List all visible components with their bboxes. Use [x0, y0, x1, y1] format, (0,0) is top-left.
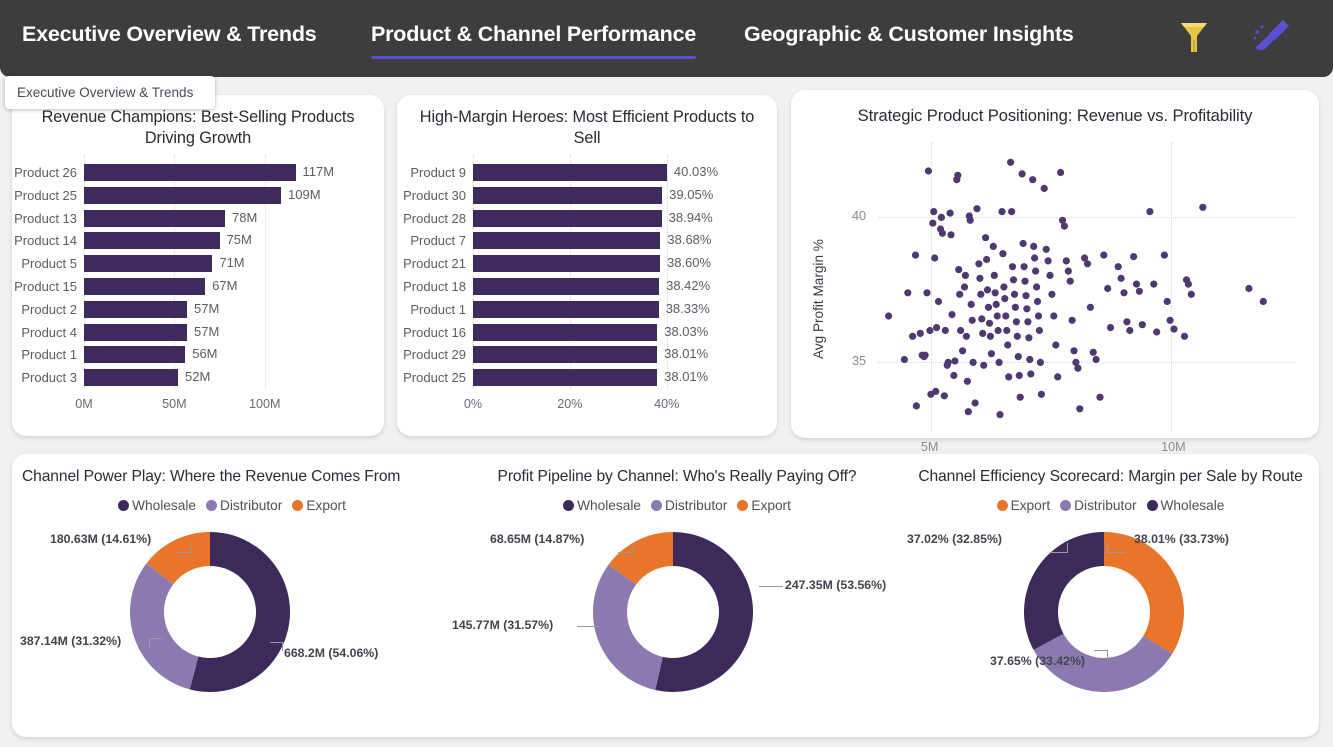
- scatter-point[interactable]: [1120, 289, 1127, 296]
- legend-color-dot: [563, 500, 574, 511]
- nav-tab-label: Geographic & Customer Insights: [744, 22, 1074, 46]
- scatter-point[interactable]: [1115, 263, 1122, 270]
- donut-graphic: [130, 532, 290, 692]
- scatter-point[interactable]: [912, 252, 919, 259]
- card-high-margin-heroes: High-Margin Heroes: Most Efficient Produ…: [397, 95, 777, 436]
- scatter-point[interactable]: [1038, 391, 1045, 398]
- legend-label: Distributor: [665, 498, 727, 513]
- scatter-point[interactable]: [1013, 318, 1020, 325]
- scatter-point[interactable]: [1199, 204, 1206, 211]
- nav-tab-executive-overview[interactable]: Executive Overview & Trends: [22, 22, 317, 47]
- bar-fill[interactable]: 38.94%: [473, 210, 662, 227]
- callout-leader-line: [618, 543, 634, 553]
- bar-fill[interactable]: 38.01%: [473, 369, 657, 386]
- scatter-point[interactable]: [1005, 373, 1012, 380]
- bar-value-label: 38.42%: [659, 278, 710, 293]
- legend-label: Export: [306, 498, 346, 513]
- bar-category-label: Product 16: [403, 325, 473, 340]
- bar-fill[interactable]: 40.03%: [473, 164, 667, 181]
- bar-category-label: Product 25: [14, 188, 84, 203]
- scatter-point[interactable]: [925, 167, 932, 174]
- scatter-point[interactable]: [1000, 283, 1007, 290]
- bar-row[interactable]: Product 1638.03%: [473, 322, 691, 342]
- x-axis-tick: 40%: [654, 397, 679, 411]
- bar-category-label: Product 1: [21, 347, 84, 362]
- scatter-point[interactable]: [954, 172, 961, 179]
- scatter-point[interactable]: [990, 243, 997, 250]
- legend-label: Wholesale: [132, 498, 196, 513]
- bar-value-label: 38.01%: [657, 346, 708, 361]
- scatter-point[interactable]: [942, 327, 949, 334]
- scatter-point[interactable]: [1041, 185, 1048, 192]
- scatter-point[interactable]: [1063, 257, 1070, 264]
- legend-color-dot: [1147, 500, 1158, 511]
- scatter-point[interactable]: [1043, 246, 1050, 253]
- scatter-point[interactable]: [1057, 169, 1064, 176]
- x-axis-tick: 20%: [557, 397, 582, 411]
- scatter-point[interactable]: [1017, 394, 1024, 401]
- callout-leader-line: [577, 626, 599, 627]
- bar-row[interactable]: Product 738.68%: [473, 231, 691, 251]
- bar-category-label: Product 30: [403, 188, 473, 203]
- bar-row[interactable]: Product 571M: [84, 254, 319, 274]
- bar-category-label: Product 4: [21, 325, 84, 340]
- top-navigation-bar: Executive Overview & Trends Product & Ch…: [0, 0, 1333, 77]
- bar-fill[interactable]: 71M: [84, 255, 212, 272]
- scatter-point[interactable]: [975, 260, 982, 267]
- scatter-point[interactable]: [1139, 321, 1146, 328]
- scatter-point[interactable]: [1048, 291, 1055, 298]
- scatter-point[interactable]: [1009, 263, 1016, 270]
- filter-icon[interactable]: [1172, 14, 1216, 58]
- bar-row[interactable]: Product 2538.01%: [473, 368, 691, 388]
- legend-label: Distributor: [1074, 498, 1136, 513]
- scatter-point[interactable]: [1054, 373, 1061, 380]
- scatter-point[interactable]: [904, 289, 911, 296]
- bar-fill[interactable]: 52M: [84, 369, 178, 386]
- scatter-point[interactable]: [1067, 278, 1074, 285]
- scatter-point[interactable]: [951, 357, 958, 364]
- legend-label: Distributor: [220, 498, 282, 513]
- bar-fill[interactable]: 57M: [84, 324, 187, 341]
- callout-leader-line: [1094, 650, 1108, 660]
- scatter-point[interactable]: [1030, 243, 1037, 250]
- scatter-point[interactable]: [1026, 356, 1033, 363]
- scatter-point[interactable]: [963, 333, 970, 340]
- bar-fill[interactable]: 38.68%: [473, 232, 660, 249]
- scatter-point[interactable]: [956, 291, 963, 298]
- scatter-point[interactable]: [1019, 170, 1026, 177]
- nav-tab-label: Product & Channel Performance: [371, 22, 696, 46]
- nav-tab-product-channel-performance[interactable]: Product & Channel Performance: [371, 22, 696, 47]
- bar-value-label: 75M: [220, 232, 252, 247]
- bar-category-label: Product 2: [21, 302, 84, 317]
- scatter-point[interactable]: [1123, 318, 1130, 325]
- bar-value-label: 38.94%: [662, 210, 713, 225]
- scatter-point[interactable]: [1010, 276, 1017, 283]
- scatter-point[interactable]: [996, 411, 1003, 418]
- legend-item[interactable]: Distributor: [651, 498, 727, 513]
- scatter-point[interactable]: [1167, 317, 1174, 324]
- scatter-point[interactable]: [972, 399, 979, 406]
- bar-fill[interactable]: 56M: [84, 346, 185, 363]
- scatter-point[interactable]: [988, 350, 995, 357]
- scatter-point[interactable]: [931, 254, 938, 261]
- x-axis-tick: 5M: [921, 440, 939, 454]
- bar-value-label: 38.60%: [660, 255, 711, 270]
- bar-fill[interactable]: 78M: [84, 210, 225, 227]
- bar-row[interactable]: Product 3039.05%: [473, 185, 691, 205]
- scatter-point[interactable]: [1007, 159, 1014, 166]
- bar-category-label: Product 1: [410, 302, 473, 317]
- scatter-point[interactable]: [1002, 312, 1009, 319]
- scatter-point[interactable]: [1181, 333, 1188, 340]
- scatter-point[interactable]: [922, 352, 929, 359]
- scatter-point[interactable]: [959, 347, 966, 354]
- legend-color-dot: [997, 500, 1008, 511]
- nav-tab-label: Executive Overview & Trends: [22, 22, 317, 46]
- legend-color-dot: [1060, 500, 1071, 511]
- x-axis-tick: 0M: [75, 397, 93, 411]
- chart-title: High-Margin Heroes: Most Efficient Produ…: [409, 107, 765, 149]
- scatter-point[interactable]: [945, 359, 952, 366]
- legend-label: Export: [1011, 498, 1051, 513]
- scatter-point[interactable]: [930, 208, 937, 215]
- scatter-point[interactable]: [1074, 365, 1081, 372]
- scatter-point[interactable]: [1036, 327, 1043, 334]
- scatter-point[interactable]: [955, 266, 962, 273]
- bar-category-label: Product 29: [403, 347, 473, 362]
- bar-chart-revenue-champions: 0M50M100MProduct 26117MProduct 25109MPro…: [84, 161, 319, 389]
- bar-row[interactable]: Product 26117M: [84, 162, 319, 182]
- bar-fill[interactable]: 109M: [84, 187, 281, 204]
- bar-category-label: Product 13: [14, 211, 84, 226]
- scatter-point[interactable]: [982, 234, 989, 241]
- scatter-point[interactable]: [1033, 283, 1040, 290]
- bar-row[interactable]: Product 2938.01%: [473, 345, 691, 365]
- scatter-point[interactable]: [1188, 291, 1195, 298]
- donut-callout: 68.65M (14.87%): [490, 532, 584, 546]
- chart-title: Channel Power Play: Where the Revenue Co…: [12, 468, 452, 486]
- scatter-point[interactable]: [987, 333, 994, 340]
- scatter-point[interactable]: [1032, 268, 1039, 275]
- bar-value-label: 38.01%: [657, 369, 708, 384]
- scatter-point[interactable]: [973, 205, 980, 212]
- donut-chart-channel-efficiency: Channel Efficiency Scorecard: Margin per…: [902, 454, 1319, 737]
- bar-category-label: Product 5: [21, 256, 84, 271]
- donut-ring: [130, 532, 290, 692]
- scatter-point[interactable]: [1104, 285, 1111, 292]
- scatter-point[interactable]: [1037, 359, 1044, 366]
- scatter-point[interactable]: [964, 378, 971, 385]
- chart-title: Revenue Champions: Best-Selling Products…: [22, 107, 374, 149]
- donut-legend: ExportDistributorWholesale: [902, 498, 1319, 513]
- bar-category-label: Product 26: [14, 165, 84, 180]
- scatter-point[interactable]: [1052, 341, 1059, 348]
- bar-value-label: 78M: [225, 210, 257, 225]
- scatter-point[interactable]: [1146, 208, 1153, 215]
- donut-graphic: [1024, 532, 1184, 692]
- scatter-point[interactable]: [986, 320, 993, 327]
- scatter-point[interactable]: [993, 301, 1000, 308]
- scatter-point[interactable]: [917, 330, 924, 337]
- bar-row[interactable]: Product 1567M: [84, 276, 319, 296]
- scatter-point[interactable]: [1107, 324, 1114, 331]
- scatter-point[interactable]: [977, 291, 984, 298]
- bar-row[interactable]: Product 138.33%: [473, 299, 691, 319]
- bar-row[interactable]: Product 25109M: [84, 185, 319, 205]
- bar-row[interactable]: Product 1838.42%: [473, 276, 691, 296]
- scatter-point[interactable]: [983, 256, 990, 263]
- bar-value-label: 109M: [281, 187, 321, 202]
- bar-row[interactable]: Product 940.03%: [473, 162, 691, 182]
- scatter-point[interactable]: [991, 272, 998, 279]
- scatter-point[interactable]: [992, 289, 999, 296]
- scatter-point[interactable]: [1153, 328, 1160, 335]
- scatter-point[interactable]: [1004, 341, 1011, 348]
- bar-value-label: 38.68%: [660, 232, 711, 247]
- donut-slice[interactable]: [593, 564, 663, 690]
- legend-color-dot: [737, 500, 748, 511]
- bar-fill[interactable]: 38.01%: [473, 346, 657, 363]
- legend-item[interactable]: Export: [292, 498, 346, 513]
- scatter-point[interactable]: [994, 312, 1001, 319]
- bar-value-label: 57M: [187, 301, 219, 316]
- scatter-point[interactable]: [1070, 347, 1077, 354]
- scatter-point[interactable]: [999, 250, 1006, 257]
- chart-title: Profit Pipeline by Channel: Who's Really…: [452, 468, 902, 486]
- scatter-point[interactable]: [938, 214, 945, 221]
- scatter-point[interactable]: [985, 304, 992, 311]
- scatter-point[interactable]: [1016, 372, 1023, 379]
- nav-tab-geographic-customer-insights[interactable]: Geographic & Customer Insights: [744, 22, 1074, 47]
- scatter-point[interactable]: [926, 327, 933, 334]
- donut-callout: 668.2M (54.06%): [284, 646, 378, 660]
- bar-value-label: 38.33%: [659, 301, 710, 316]
- callout-leader-line: [270, 642, 283, 651]
- scatter-point[interactable]: [909, 333, 916, 340]
- scatter-point[interactable]: [1118, 275, 1125, 282]
- scatter-point[interactable]: [1023, 305, 1030, 312]
- bar-category-label: Product 15: [14, 279, 84, 294]
- scatter-point[interactable]: [1164, 298, 1171, 305]
- scatter-point[interactable]: [1136, 288, 1143, 295]
- scatter-point[interactable]: [1027, 370, 1034, 377]
- bar-category-label: Product 9: [410, 165, 473, 180]
- scatter-point[interactable]: [1014, 333, 1021, 340]
- scatter-point[interactable]: [1260, 298, 1267, 305]
- scatter-point[interactable]: [1021, 278, 1028, 285]
- legend-item[interactable]: Distributor: [206, 498, 282, 513]
- bar-fill[interactable]: 38.60%: [473, 255, 660, 272]
- scatter-point[interactable]: [1087, 304, 1094, 311]
- donut-graphic: [593, 532, 753, 692]
- scatter-point[interactable]: [1003, 327, 1010, 334]
- scatter-point[interactable]: [1130, 253, 1137, 260]
- scatter-point[interactable]: [1020, 240, 1027, 247]
- callout-leader-line: [1107, 543, 1125, 553]
- scatter-point[interactable]: [978, 315, 985, 322]
- scatter-point[interactable]: [957, 327, 964, 334]
- scatter-point[interactable]: [923, 289, 930, 296]
- legend-item[interactable]: Wholesale: [118, 498, 196, 513]
- scatter-point[interactable]: [1150, 281, 1157, 288]
- bar-value-label: 57M: [187, 324, 219, 339]
- scatter-point[interactable]: [995, 327, 1002, 334]
- scatter-point[interactable]: [901, 356, 908, 363]
- scatter-point[interactable]: [1093, 356, 1100, 363]
- scatter-point[interactable]: [998, 208, 1005, 215]
- scatter-point[interactable]: [1015, 353, 1022, 360]
- bar-row[interactable]: Product 352M: [84, 368, 319, 388]
- scatter-point[interactable]: [948, 311, 955, 318]
- donut-callout: 38.01% (33.73%): [1134, 532, 1229, 546]
- legend-item[interactable]: Wholesale: [1147, 498, 1225, 513]
- scatter-point[interactable]: [1096, 394, 1103, 401]
- scatter-point[interactable]: [1021, 263, 1028, 270]
- bar-value-label: 117M: [296, 164, 335, 179]
- scatter-point[interactable]: [967, 217, 974, 224]
- legend-color-dot: [292, 500, 303, 511]
- bar-category-label: Product 14: [14, 233, 84, 248]
- callout-leader-line: [759, 586, 783, 587]
- scatter-point[interactable]: [1100, 252, 1107, 259]
- bar-value-label: 71M: [212, 255, 244, 270]
- scatter-point[interactable]: [947, 231, 954, 238]
- legend-item[interactable]: Export: [997, 498, 1051, 513]
- scatter-point[interactable]: [1069, 317, 1076, 324]
- scatter-points-layer: [791, 90, 1319, 438]
- donut-callout: 37.02% (32.85%): [907, 532, 1002, 546]
- scatter-point[interactable]: [984, 286, 991, 293]
- scatter-point[interactable]: [1133, 281, 1140, 288]
- nav-tab-tooltip: Executive Overview & Trends: [5, 76, 215, 109]
- scatter-point[interactable]: [1245, 285, 1252, 292]
- donut-slice[interactable]: [130, 563, 198, 689]
- scatter-point[interactable]: [969, 317, 976, 324]
- scatter-point[interactable]: [980, 362, 987, 369]
- x-axis-tick: 0%: [464, 397, 482, 411]
- scatter-point[interactable]: [1008, 208, 1015, 215]
- bar-fill[interactable]: 38.42%: [473, 278, 659, 295]
- scatter-point[interactable]: [929, 220, 936, 227]
- scatter-point[interactable]: [932, 388, 939, 395]
- bar-category-label: Product 28: [403, 211, 473, 226]
- broom-icon[interactable]: [1249, 14, 1293, 58]
- x-axis-tick: 100M: [249, 397, 281, 411]
- bar-chart-high-margin-heroes: 0%20%40%Product 940.03%Product 3039.05%P…: [473, 161, 691, 389]
- scatter-point[interactable]: [1001, 295, 1008, 302]
- bar-row[interactable]: Product 2838.94%: [473, 208, 691, 228]
- scatter-point[interactable]: [996, 359, 1003, 366]
- legend-label: Wholesale: [1161, 498, 1225, 513]
- scatter-point[interactable]: [1029, 176, 1036, 183]
- scatter-point[interactable]: [968, 301, 975, 308]
- scatter-point[interactable]: [913, 402, 920, 409]
- bar-row[interactable]: Product 257M: [84, 299, 319, 319]
- scatter-point[interactable]: [947, 210, 954, 217]
- scatter-point[interactable]: [1090, 349, 1097, 356]
- scatter-point[interactable]: [1034, 298, 1041, 305]
- scatter-point[interactable]: [935, 298, 942, 305]
- legend-label: Export: [751, 498, 791, 513]
- scatter-point[interactable]: [885, 312, 892, 319]
- donut-callout: 180.63M (14.61%): [50, 532, 151, 546]
- bar-row[interactable]: Product 457M: [84, 322, 319, 342]
- legend-color-dot: [651, 500, 662, 511]
- scatter-point[interactable]: [950, 372, 957, 379]
- legend-item[interactable]: Distributor: [1060, 498, 1136, 513]
- scatter-point[interactable]: [1035, 312, 1042, 319]
- bar-row[interactable]: Product 2138.60%: [473, 254, 691, 274]
- bar-row[interactable]: Product 1378M: [84, 208, 319, 228]
- bar-category-label: Product 7: [410, 233, 473, 248]
- scatter-point[interactable]: [1161, 252, 1168, 259]
- scatter-point[interactable]: [962, 272, 969, 279]
- scatter-point[interactable]: [1076, 405, 1083, 412]
- scatter-point[interactable]: [933, 324, 940, 331]
- card-channel-performance-donuts: Channel Power Play: Where the Revenue Co…: [12, 454, 1319, 737]
- bar-fill[interactable]: 38.33%: [473, 301, 659, 318]
- scatter-point[interactable]: [1084, 260, 1091, 267]
- scatter-point[interactable]: [1025, 334, 1032, 341]
- scatter-point[interactable]: [1185, 281, 1192, 288]
- scatter-point[interactable]: [1011, 291, 1018, 298]
- donut-chart-channel-power-play: Channel Power Play: Where the Revenue Co…: [12, 454, 452, 737]
- bar-fill[interactable]: 75M: [84, 232, 220, 249]
- bar-value-label: 39.05%: [662, 187, 713, 202]
- bar-fill[interactable]: 38.03%: [473, 324, 657, 341]
- scatter-point[interactable]: [1012, 304, 1019, 311]
- scatter-point[interactable]: [1170, 326, 1177, 333]
- donut-legend: WholesaleDistributorExport: [12, 498, 452, 513]
- bar-row[interactable]: Product 1475M: [84, 231, 319, 251]
- scatter-point[interactable]: [965, 408, 972, 415]
- donut-chart-profit-pipeline: Profit Pipeline by Channel: Who's Really…: [452, 454, 902, 737]
- scatter-point[interactable]: [961, 283, 968, 290]
- bar-fill[interactable]: 57M: [84, 301, 187, 318]
- bar-value-label: 56M: [185, 346, 217, 361]
- bar-fill[interactable]: 67M: [84, 278, 205, 295]
- bar-fill[interactable]: 117M: [84, 164, 296, 181]
- scatter-point[interactable]: [1126, 327, 1133, 334]
- scatter-point[interactable]: [976, 275, 983, 282]
- bar-row[interactable]: Product 156M: [84, 345, 319, 365]
- scatter-point[interactable]: [1050, 312, 1057, 319]
- dashboard-page: Executive Overview & Trends Product & Ch…: [0, 0, 1333, 747]
- donut-callout: 37.65% (33.42%): [990, 654, 1085, 668]
- bar-fill[interactable]: 39.05%: [473, 187, 662, 204]
- scatter-point[interactable]: [939, 230, 946, 237]
- legend-label: Wholesale: [577, 498, 641, 513]
- scatter-point[interactable]: [970, 359, 977, 366]
- scatter-point[interactable]: [1065, 268, 1072, 275]
- scatter-point[interactable]: [941, 392, 948, 399]
- scatter-point[interactable]: [1022, 292, 1029, 299]
- scatter-point[interactable]: [1031, 254, 1038, 261]
- legend-item[interactable]: Export: [737, 498, 791, 513]
- legend-item[interactable]: Wholesale: [563, 498, 641, 513]
- scatter-point[interactable]: [979, 330, 986, 337]
- scatter-point[interactable]: [1045, 257, 1052, 264]
- scatter-point[interactable]: [1046, 272, 1053, 279]
- callout-leader-line: [177, 543, 191, 553]
- scatter-plot-revenue-vs-profitability: 35405M10MAvg Profit Margin %Total Revenu…: [791, 90, 1319, 438]
- bar-value-label: 40.03%: [667, 164, 718, 179]
- card-revenue-champions: Revenue Champions: Best-Selling Products…: [12, 95, 384, 436]
- scatter-point[interactable]: [1061, 223, 1068, 230]
- scatter-point[interactable]: [1024, 318, 1031, 325]
